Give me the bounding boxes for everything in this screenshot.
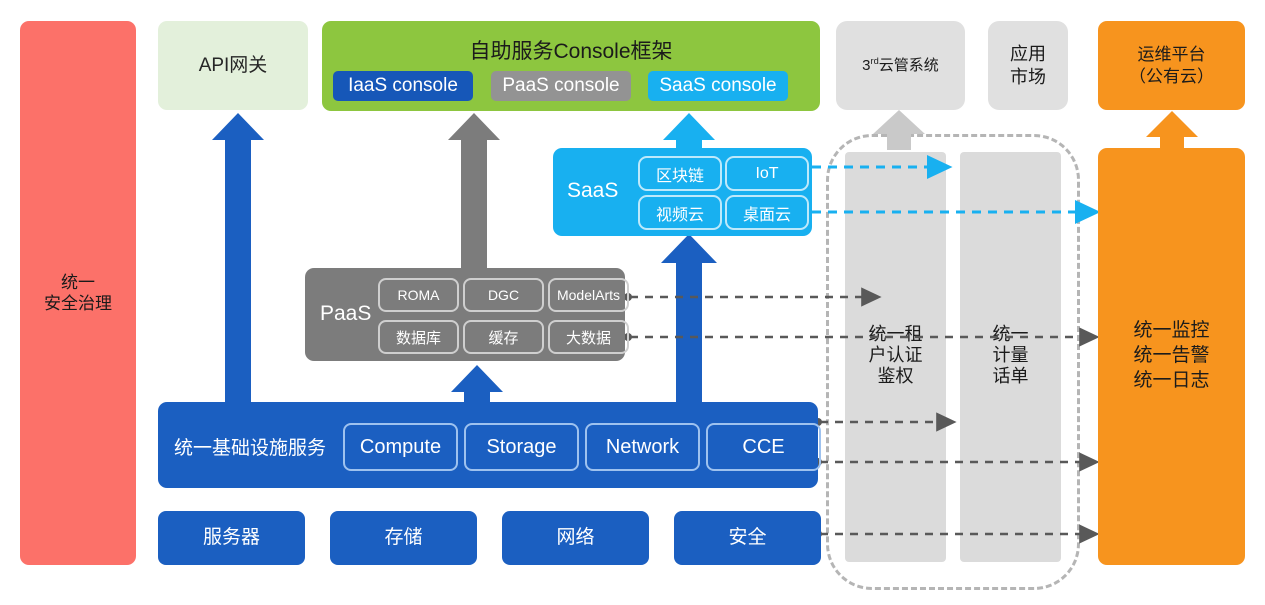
infra-item-storage-label: Storage <box>486 436 556 459</box>
shared-service-column-auth: 统一租 户认证 鉴权 <box>845 152 946 562</box>
arrow-ops-to-ops-platform <box>1146 111 1198 150</box>
infra-item-cce[interactable]: CCE <box>706 423 821 471</box>
security-label-line1: 统一 <box>44 272 112 293</box>
unified-infrastructure-bar: 统一基础设施服务 Compute Storage Network CCE <box>158 402 818 488</box>
ops-capabilities-lines: 统一监控 统一告警 统一日志 <box>1133 319 1209 393</box>
shared-service-auth-line2: 户认证 <box>845 345 946 366</box>
saas-item-desktop-cloud-label: 桌面云 <box>743 201 791 225</box>
unified-security-governance-panel: 统一 安全治理 <box>20 21 136 565</box>
chip-iaas-console[interactable]: IaaS console <box>333 71 473 101</box>
app-market-line1: 应用 <box>1010 43 1046 66</box>
api-gateway-label: API网关 <box>199 54 268 78</box>
infra-item-network[interactable]: Network <box>585 423 700 471</box>
shared-service-metering-line1: 统一 <box>960 324 1061 345</box>
saas-item-blockchain[interactable]: 区块链 <box>638 156 722 191</box>
saas-item-blockchain-label: 区块链 <box>656 162 704 186</box>
saas-block: SaaS 区块链 IoT 视频云 桌面云 <box>553 148 812 236</box>
shared-service-auth-line1: 统一租 <box>845 324 946 345</box>
arrow-infra-to-paas <box>451 365 503 405</box>
third-party-superscript: rd <box>871 56 879 66</box>
app-market-box: 应用 市场 <box>988 21 1068 110</box>
saas-item-video-cloud-label: 视频云 <box>656 201 704 225</box>
arrow-saas-to-saas-console <box>663 113 715 150</box>
ops-platform-line1: 运维平台 <box>1129 44 1214 65</box>
shared-service-metering-line3: 话单 <box>960 366 1061 387</box>
paas-item-dgc[interactable]: DGC <box>463 278 544 312</box>
arrow-paas-to-console <box>448 113 500 270</box>
ops-capability-monitor: 统一监控 <box>1133 319 1209 344</box>
paas-item-bigdata[interactable]: 大数据 <box>548 320 629 354</box>
third-party-prefix: 3 <box>862 57 870 74</box>
chip-saas-console[interactable]: SaaS console <box>648 71 788 101</box>
paas-block-label: PaaS <box>320 302 371 326</box>
hardware-item-security-label: 安全 <box>728 526 766 550</box>
paas-item-database-label: 数据库 <box>396 327 441 348</box>
app-market-lines: 应用 市场 <box>1010 43 1046 88</box>
shared-service-metering-lines: 统一 计量 话单 <box>960 324 1061 388</box>
arrow-infra-to-saas <box>661 234 717 405</box>
infra-item-compute-label: Compute <box>360 436 441 459</box>
saas-item-desktop-cloud[interactable]: 桌面云 <box>725 195 809 230</box>
paas-item-roma-label: ROMA <box>398 287 440 303</box>
console-frame-title: 自助服务Console框架 <box>322 35 820 65</box>
paas-block: PaaS ROMA DGC ModelArts 数据库 缓存 大数据 <box>305 268 625 361</box>
saas-item-iot-label: IoT <box>755 165 778 183</box>
infra-item-cce-label: CCE <box>742 436 784 459</box>
infra-item-compute[interactable]: Compute <box>343 423 458 471</box>
paas-item-roma[interactable]: ROMA <box>378 278 459 312</box>
saas-item-iot[interactable]: IoT <box>725 156 809 191</box>
paas-item-modelarts[interactable]: ModelArts <box>548 278 629 312</box>
architecture-diagram: 统一租 户认证 鉴权 统一 计量 话单 <box>0 0 1265 605</box>
security-label-block: 统一 安全治理 <box>44 272 112 315</box>
ops-platform-line2: （公有云） <box>1129 66 1214 87</box>
ops-platform-box: 运维平台 （公有云） <box>1098 21 1245 110</box>
hardware-item-security: 安全 <box>674 511 821 565</box>
saas-item-video-cloud[interactable]: 视频云 <box>638 195 722 230</box>
hardware-item-storage: 存储 <box>330 511 477 565</box>
paas-item-cache[interactable]: 缓存 <box>463 320 544 354</box>
saas-block-label: SaaS <box>567 179 618 203</box>
chip-saas-console-label: SaaS console <box>659 75 776 97</box>
hardware-item-storage-label: 存储 <box>384 526 422 550</box>
hardware-item-network: 网络 <box>502 511 649 565</box>
shared-service-metering-line2: 计量 <box>960 345 1061 366</box>
paas-item-bigdata-label: 大数据 <box>566 327 611 348</box>
paas-item-database[interactable]: 数据库 <box>378 320 459 354</box>
chip-paas-console-label: PaaS console <box>502 75 619 97</box>
ops-capability-alarm: 统一告警 <box>1133 344 1209 369</box>
hardware-item-server-label: 服务器 <box>203 526 260 550</box>
arrow-infra-to-apigw <box>212 113 264 405</box>
third-party-cloud-management-box: 3rd云管系统 <box>836 21 965 110</box>
infra-item-storage[interactable]: Storage <box>464 423 579 471</box>
unified-infrastructure-label: 统一基础设施服务 <box>174 433 326 460</box>
chip-iaas-console-label: IaaS console <box>348 75 458 97</box>
ops-capabilities-panel: 统一监控 统一告警 统一日志 <box>1098 148 1245 565</box>
shared-service-column-metering: 统一 计量 话单 <box>960 152 1061 562</box>
shared-service-auth-lines: 统一租 户认证 鉴权 <box>845 324 946 388</box>
self-service-console-frame: 自助服务Console框架 IaaS console PaaS console … <box>322 21 820 111</box>
ops-platform-lines: 运维平台 （公有云） <box>1129 44 1214 87</box>
paas-item-modelarts-label: ModelArts <box>557 287 620 303</box>
hardware-item-network-label: 网络 <box>556 526 594 550</box>
paas-item-dgc-label: DGC <box>488 287 519 303</box>
third-party-label: 3rd云管系统 <box>862 56 939 76</box>
api-gateway-box: API网关 <box>158 21 308 110</box>
paas-item-cache-label: 缓存 <box>488 327 518 348</box>
security-label-line2: 安全治理 <box>44 293 112 314</box>
infra-item-network-label: Network <box>606 436 679 459</box>
hardware-item-server: 服务器 <box>158 511 305 565</box>
ops-capability-log: 统一日志 <box>1133 369 1209 394</box>
shared-service-auth-line3: 鉴权 <box>845 366 946 387</box>
app-market-line2: 市场 <box>1010 66 1046 89</box>
third-party-suffix: 云管系统 <box>879 57 939 74</box>
chip-paas-console[interactable]: PaaS console <box>491 71 631 101</box>
